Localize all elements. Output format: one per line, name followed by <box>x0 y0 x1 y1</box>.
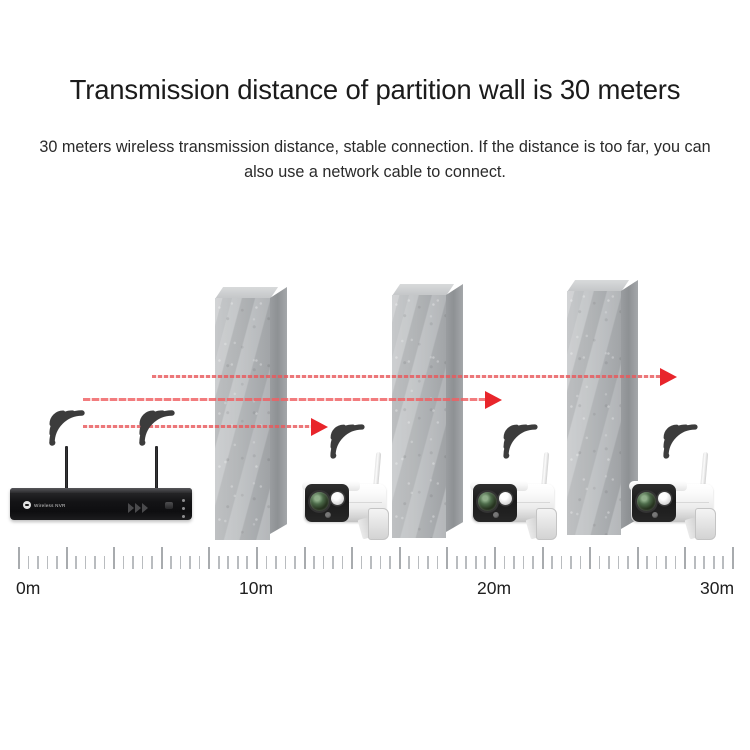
ruler-tick-major <box>18 547 20 569</box>
wifi-signal-icon-camera-1 <box>326 415 366 459</box>
ruler-tick-minor <box>37 556 39 569</box>
page-title: Transmission distance of partition wall … <box>0 74 750 106</box>
camera-seam <box>516 502 550 503</box>
camera-light-sensor <box>325 512 331 518</box>
ruler-tick-major <box>589 547 591 569</box>
page-subtitle: 30 meters wireless transmission distance… <box>24 135 726 185</box>
ip-camera-1[interactable] <box>300 462 412 542</box>
nvr-led <box>182 499 185 502</box>
ruler-tick-minor <box>28 556 30 569</box>
ruler-tick-minor <box>199 556 201 569</box>
camera-lens <box>637 492 656 511</box>
ruler-tick-minor <box>665 556 667 569</box>
ruler-tick-minor <box>275 556 277 569</box>
wall-texture <box>215 298 270 540</box>
ruler-label: 10m <box>239 578 273 599</box>
camera-seam <box>675 502 709 503</box>
ip-camera-2[interactable] <box>468 462 580 542</box>
nvr-power-button[interactable] <box>165 502 173 509</box>
ruler-tick-minor <box>656 556 658 569</box>
camera-ir-led <box>331 492 344 505</box>
ruler-tick-major <box>637 547 639 569</box>
nvr-led <box>182 515 185 518</box>
camera-mount-bracket <box>536 508 557 540</box>
ruler-tick-major <box>256 547 258 569</box>
ruler-label: 30m <box>700 578 734 599</box>
ruler-tick-minor <box>389 556 391 569</box>
ruler-tick-minor <box>180 556 182 569</box>
antenna-tip <box>65 446 68 450</box>
wifi-signal-icon-nvr-left <box>44 400 86 446</box>
ruler-tick-minor <box>56 556 58 569</box>
ip-camera-3[interactable] <box>627 462 739 542</box>
camera-ir-led <box>499 492 512 505</box>
ruler-label: 0m <box>16 578 40 599</box>
ruler-tick-minor <box>523 556 525 569</box>
ruler-tick-major <box>684 547 686 569</box>
ruler-tick-minor <box>294 556 296 569</box>
ruler-tick-minor <box>427 556 429 569</box>
ruler-tick-minor <box>418 556 420 569</box>
ruler-tick-major <box>113 547 115 569</box>
ruler-tick-minor <box>342 556 344 569</box>
ruler-tick-minor <box>627 556 629 569</box>
partition-wall-1 <box>215 298 287 540</box>
ruler-tick-minor <box>237 556 239 569</box>
signal-ray-bottom <box>83 425 316 428</box>
ruler-tick-minor <box>142 556 144 569</box>
ruler-tick-minor <box>599 556 601 569</box>
ruler-tick-major <box>399 547 401 569</box>
ruler-tick-minor <box>722 556 724 569</box>
ruler-tick-major <box>161 547 163 569</box>
ruler-tick-major <box>446 547 448 569</box>
ruler-tick-minor <box>380 556 382 569</box>
ruler-tick-minor <box>94 556 96 569</box>
arrow-right-icon <box>485 391 502 409</box>
camera-ir-led <box>658 492 671 505</box>
wifi-signal-icon-nvr-right <box>134 400 176 446</box>
arrow-right-icon <box>660 368 677 386</box>
ruler-tick-minor <box>151 556 153 569</box>
ruler-tick-minor <box>675 556 677 569</box>
ruler-tick-minor <box>189 556 191 569</box>
ruler-tick-minor <box>408 556 410 569</box>
ruler-tick-major <box>66 547 68 569</box>
ruler-tick-minor <box>694 556 696 569</box>
ruler-tick-minor <box>123 556 125 569</box>
ruler-tick-minor <box>361 556 363 569</box>
ruler-tick-major <box>351 547 353 569</box>
camera-mount-bracket <box>368 508 389 540</box>
camera-light-sensor <box>652 512 658 518</box>
illustration-stage: Transmission distance of partition wall … <box>0 0 750 750</box>
camera-lens <box>478 492 497 511</box>
nvr-top-bevel <box>10 488 192 493</box>
wall-side-edge <box>270 287 287 534</box>
ruler-tick-minor <box>170 556 172 569</box>
ruler-tick-minor <box>85 556 87 569</box>
ruler-tick-minor <box>47 556 49 569</box>
nvr-brand-label: Wireless NVR <box>34 503 66 508</box>
wall-front-face <box>215 298 270 540</box>
ruler-tick-minor <box>561 556 563 569</box>
ruler-tick-minor <box>456 556 458 569</box>
ruler-tick-minor <box>513 556 515 569</box>
ruler-tick-minor <box>570 556 572 569</box>
ruler-tick-major <box>304 547 306 569</box>
camera-lens <box>310 492 329 511</box>
camera-light-sensor <box>493 512 499 518</box>
ruler-tick-minor <box>370 556 372 569</box>
nvr-brand: Wireless NVR <box>23 501 66 509</box>
ruler-tick-major <box>208 547 210 569</box>
ruler-tick-minor <box>551 556 553 569</box>
wall-side-edge <box>446 284 463 532</box>
nvr-status-leds <box>182 499 185 523</box>
ruler-tick-minor <box>227 556 229 569</box>
ruler-tick-minor <box>75 556 77 569</box>
ruler-tick-minor <box>285 556 287 569</box>
ruler-tick-minor <box>504 556 506 569</box>
distance-ruler <box>18 543 732 569</box>
ruler-label: 20m <box>477 578 511 599</box>
ruler-tick-minor <box>475 556 477 569</box>
nvr-chevron-decor <box>128 503 158 515</box>
ruler-tick-minor <box>646 556 648 569</box>
ruler-tick-minor <box>618 556 620 569</box>
nvr-led <box>182 507 185 510</box>
ruler-tick-minor <box>580 556 582 569</box>
ruler-tick-major <box>542 547 544 569</box>
ruler-tick-minor <box>246 556 248 569</box>
ruler-tick-minor <box>703 556 705 569</box>
ruler-tick-minor <box>323 556 325 569</box>
wifi-signal-icon-camera-3 <box>659 415 699 459</box>
wireless-nvr-device[interactable]: Wireless NVR <box>10 488 192 520</box>
ruler-tick-minor <box>313 556 315 569</box>
camera-seam <box>348 502 382 503</box>
antenna-tip <box>155 446 158 450</box>
ruler-tick-major <box>732 547 734 569</box>
ruler-tick-minor <box>218 556 220 569</box>
ruler-tick-major <box>494 547 496 569</box>
signal-ray-top <box>152 375 670 378</box>
ruler-tick-minor <box>713 556 715 569</box>
ruler-tick-minor <box>484 556 486 569</box>
ruler-tick-minor <box>132 556 134 569</box>
ruler-tick-minor <box>532 556 534 569</box>
wifi-signal-icon-camera-2 <box>499 415 539 459</box>
ruler-tick-minor <box>332 556 334 569</box>
ruler-tick-minor <box>437 556 439 569</box>
ruler-tick-minor <box>266 556 268 569</box>
nvr-brand-icon <box>23 501 31 509</box>
camera-mount-bracket <box>695 508 716 540</box>
ruler-tick-minor <box>104 556 106 569</box>
ruler-tick-minor <box>465 556 467 569</box>
ruler-tick-minor <box>608 556 610 569</box>
